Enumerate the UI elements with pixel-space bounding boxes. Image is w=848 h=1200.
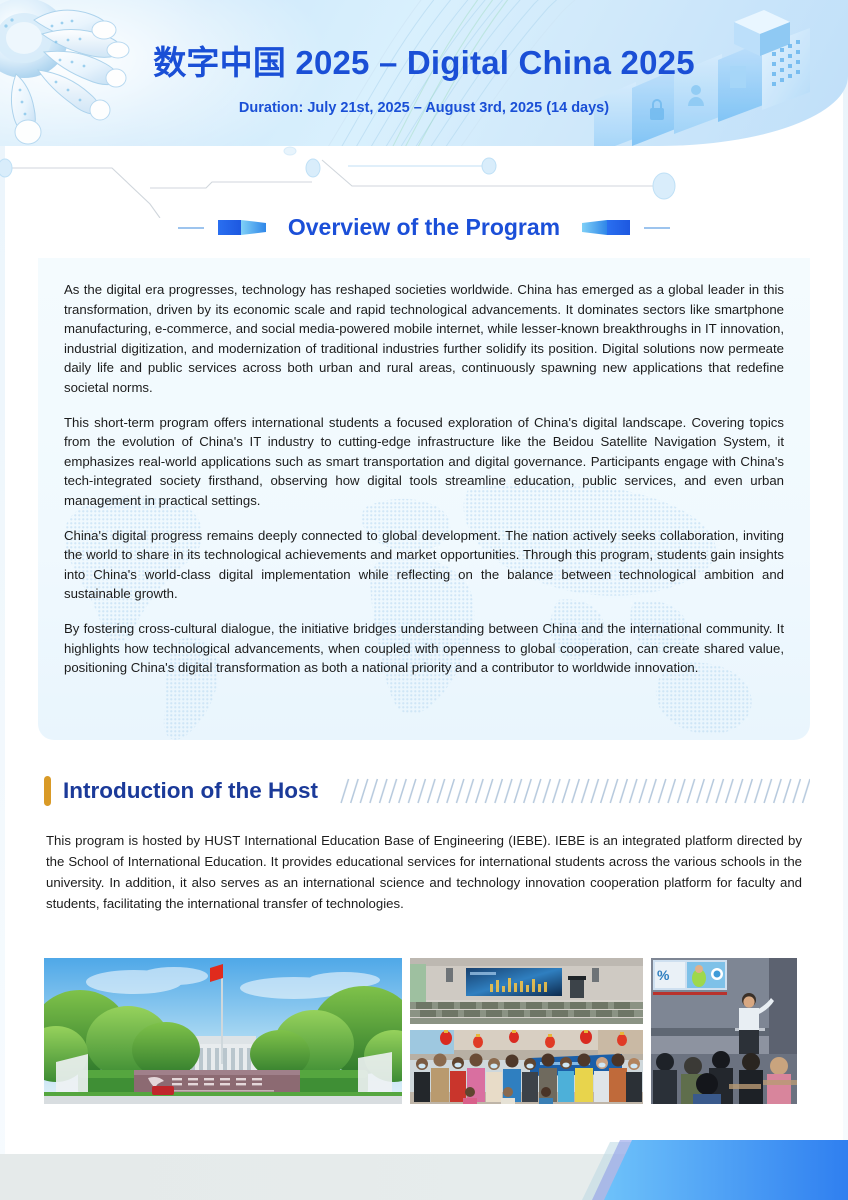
heading-accent-bar [44, 776, 51, 806]
overview-panel: As the digital era progresses, technolog… [38, 258, 810, 740]
circuit-node [0, 159, 12, 177]
gallery-column-1 [44, 958, 402, 1104]
diagonal-hatch-decoration [340, 778, 810, 804]
circuit-line-decoration [0, 146, 848, 218]
overview-paragraph-3: China's digital progress remains deeply … [64, 526, 784, 604]
overview-paragraph-4: By fostering cross-cultural dialogue, th… [64, 619, 784, 678]
gallery-column-3: % [651, 958, 797, 1104]
circuit-node [306, 159, 320, 177]
host-paragraph: This program is hosted by HUST Internati… [46, 830, 802, 914]
page-title: 数字中国 2025 – Digital China 2025 [0, 46, 848, 81]
ribbon-right-icon [582, 219, 630, 236]
photo-group [410, 1030, 643, 1104]
circuit-node [284, 147, 296, 155]
heading-rule-left [178, 227, 204, 229]
heading-rule-right [644, 227, 670, 229]
program-duration: Duration: July 21st, 2025 – August 3rd, … [0, 100, 848, 116]
ribbon-left-icon [218, 219, 266, 236]
overview-heading-text: Overview of the Program [280, 214, 568, 241]
program-brochure-page: 数字中国 2025 – Digital China 2025 Duration:… [0, 0, 848, 1200]
overview-section-heading: Overview of the Program [0, 214, 848, 241]
header-banner: 数字中国 2025 – Digital China 2025 Duration:… [0, 0, 848, 146]
gallery-column-2 [410, 958, 643, 1104]
circuit-node [653, 173, 675, 199]
photo-classroom-lecture: % [651, 958, 797, 1104]
photo-gallery: % [44, 958, 804, 1104]
footer-decoration [0, 1128, 848, 1200]
overview-paragraph-1: As the digital era progresses, technolog… [64, 280, 784, 398]
photo-campus-gate [44, 958, 402, 1104]
photo-lecture-hall [410, 958, 643, 1024]
host-body-text: This program is hosted by HUST Internati… [46, 830, 802, 914]
host-heading-text: Introduction of the Host [63, 778, 318, 804]
circuit-node [482, 158, 496, 174]
host-section-heading: Introduction of the Host [44, 776, 810, 806]
overview-body-text: As the digital era progresses, technolog… [64, 280, 784, 678]
overview-paragraph-2: This short-term program offers internati… [64, 413, 784, 511]
svg-text:%: % [657, 967, 670, 983]
